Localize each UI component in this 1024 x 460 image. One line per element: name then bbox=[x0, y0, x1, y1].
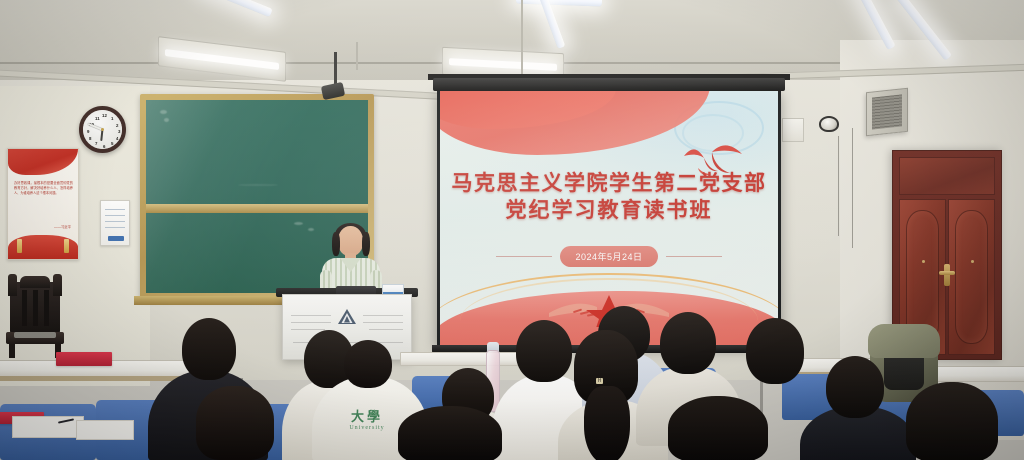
clock-numeral: 2 bbox=[116, 123, 118, 128]
slide-date-rule-right bbox=[666, 256, 722, 257]
carved-wooden-chair bbox=[6, 274, 64, 358]
screen-top-bar bbox=[433, 78, 785, 91]
clock-hour-hand bbox=[100, 129, 104, 140]
clock-numeral: 12 bbox=[102, 113, 107, 118]
audience-head bbox=[826, 356, 884, 418]
presenter-head bbox=[338, 226, 363, 256]
backpack-flap bbox=[868, 324, 940, 358]
chalkboard-divider bbox=[146, 204, 368, 213]
audience-member bbox=[394, 406, 506, 460]
audience-head bbox=[660, 312, 716, 374]
poster-attribution: ——习近平 bbox=[54, 224, 71, 229]
slide-date-badge: 2024年5月24日 bbox=[560, 246, 657, 267]
security-camera-icon bbox=[819, 116, 839, 132]
audience-head bbox=[668, 396, 768, 460]
door-handle[interactable] bbox=[939, 271, 955, 275]
presenter-hair-side bbox=[332, 232, 340, 256]
poster-quote-text: 办好思政课，最根本的是要全面贯彻党的教育方针，解决好培养什么人、怎样培养人、为谁… bbox=[14, 181, 73, 196]
door-transom bbox=[899, 157, 995, 195]
clock-numeral: 11 bbox=[95, 116, 100, 121]
hanging-cable bbox=[356, 42, 358, 70]
electrical-box bbox=[782, 118, 804, 142]
clock-numeral: 5 bbox=[111, 141, 113, 146]
screen-hanger-rod bbox=[521, 0, 523, 76]
audience-member bbox=[808, 356, 904, 460]
audience-head bbox=[906, 382, 998, 460]
clock-numeral: 3 bbox=[118, 129, 120, 134]
slide-title-line-1: 马克思主义学院学生第二党支部 bbox=[440, 170, 778, 197]
audience-head bbox=[182, 318, 236, 380]
slide-date-row: 2024年5月24日 bbox=[440, 246, 778, 267]
wall-wire bbox=[838, 136, 839, 236]
slide-title: 马克思主义学院学生第二党支部 党纪学习教育读书班 bbox=[440, 170, 778, 224]
red-folder bbox=[56, 352, 112, 366]
wall-wire bbox=[852, 128, 853, 248]
audience-member bbox=[176, 386, 296, 460]
paper-sheet bbox=[76, 420, 134, 440]
audience-head bbox=[344, 340, 392, 388]
poster-flag-graphic bbox=[8, 149, 78, 175]
chair-slat bbox=[22, 290, 27, 326]
audience-head bbox=[196, 386, 274, 460]
chair-leg bbox=[9, 344, 15, 358]
notice-chip bbox=[108, 236, 124, 241]
door-leaf-right[interactable] bbox=[948, 199, 995, 355]
poster-pillar-graphic bbox=[64, 239, 69, 253]
slide-date-rule-left bbox=[496, 256, 552, 257]
chair-slat bbox=[44, 290, 49, 326]
clock-numeral: 6 bbox=[103, 144, 105, 149]
university-crest-icon bbox=[335, 307, 359, 327]
audience-head bbox=[746, 318, 804, 384]
poster-pillar-graphic bbox=[17, 239, 22, 253]
audience-member bbox=[900, 382, 1004, 460]
audience-member bbox=[664, 396, 774, 460]
chair-slat bbox=[33, 290, 38, 326]
wall-clock: 12 1 2 3 4 5 6 7 8 9 10 11 bbox=[79, 106, 126, 153]
clock-center-pin bbox=[101, 128, 104, 131]
wall-notice-card bbox=[100, 200, 130, 246]
chair-cushion bbox=[14, 332, 56, 338]
presenter-hair-side bbox=[362, 232, 370, 256]
chair-post bbox=[8, 274, 17, 296]
audience-head bbox=[398, 406, 502, 460]
clock-numeral: 1 bbox=[111, 116, 113, 121]
hair-clip: H bbox=[596, 378, 603, 384]
hair-strand bbox=[584, 386, 630, 460]
student-desk bbox=[936, 366, 1024, 382]
clock-numeral: 7 bbox=[95, 141, 97, 146]
chair-post bbox=[53, 274, 62, 296]
chair-crown bbox=[20, 276, 50, 288]
clock-numeral: 4 bbox=[116, 136, 118, 141]
clock-numeral: 8 bbox=[89, 136, 91, 141]
classroom-photo: 12 1 2 3 4 5 6 7 8 9 10 11 办好思政课，最根本的是要全… bbox=[0, 0, 1024, 460]
door-lock-plate bbox=[944, 264, 950, 286]
clock-face: 12 1 2 3 4 5 6 7 8 9 10 11 bbox=[83, 110, 122, 149]
wall-poster: 办好思政课，最根本的是要全面贯彻党的教育方针，解决好培养什么人、怎样培养人、为谁… bbox=[7, 148, 79, 260]
wall-speaker-icon bbox=[866, 88, 908, 136]
slide-title-line-2: 党纪学习教育读书班 bbox=[440, 197, 778, 224]
clock-numeral: 9 bbox=[87, 129, 89, 134]
